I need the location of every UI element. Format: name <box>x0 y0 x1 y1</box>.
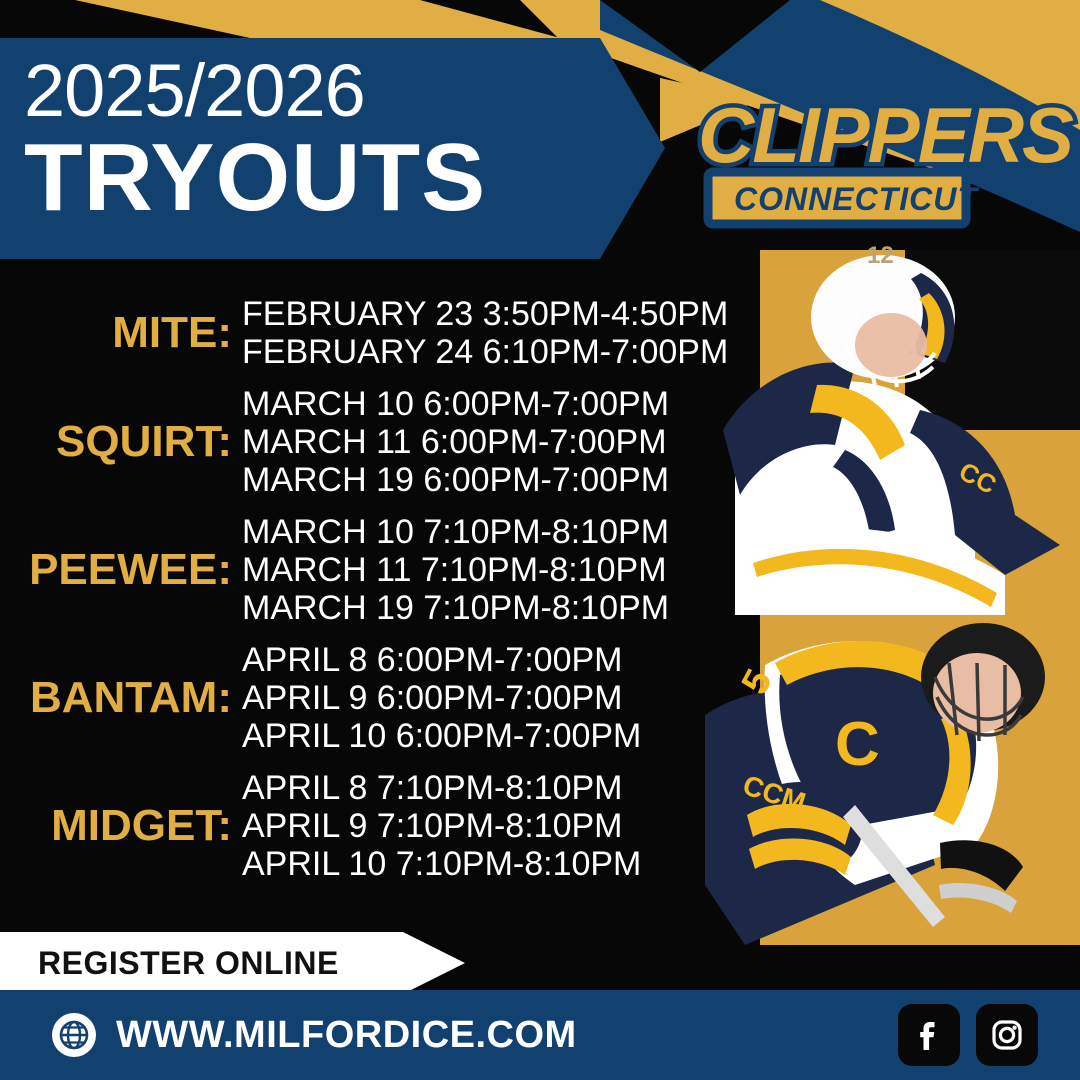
tryouts-poster: 2025/2026 TRYOUTS CLIPPERS CONNECTICUT <box>0 0 1080 1080</box>
team-logo: CLIPPERS CONNECTICUT <box>690 60 990 240</box>
globe-icon <box>52 1013 96 1057</box>
division-label-bantam: BANTAM: <box>0 674 232 722</box>
session-item: FEBRUARY 24 6:10PM-7:00PM <box>242 333 728 371</box>
register-online-label: REGISTER ONLINE <box>38 945 339 982</box>
session-item: FEBRUARY 23 3:50PM-4:50PM <box>242 295 728 333</box>
schedule-row-peewee: PEEWEE: MARCH 10 7:10PM-8:10PM MARCH 11 … <box>0 513 710 627</box>
session-item: APRIL 8 7:10PM-8:10PM <box>242 769 641 807</box>
logo-connecticut-text: CONNECTICUT <box>734 181 979 217</box>
session-item: APRIL 10 6:00PM-7:00PM <box>242 717 641 755</box>
instagram-icon[interactable] <box>976 1004 1038 1066</box>
session-item: APRIL 10 7:10PM-8:10PM <box>242 845 641 883</box>
schedule-row-bantam: BANTAM: APRIL 8 6:00PM-7:00PM APRIL 9 6:… <box>0 641 710 755</box>
tryout-schedule: MITE: FEBRUARY 23 3:50PM-4:50PM FEBRUARY… <box>0 295 710 897</box>
session-item: MARCH 19 7:10PM-8:10PM <box>242 589 669 627</box>
session-item: MARCH 11 6:00PM-7:00PM <box>242 423 669 461</box>
jersey-crest-bottom: C <box>835 710 880 779</box>
season-year: 2025/2026 <box>24 48 665 134</box>
register-online-banner[interactable]: REGISTER ONLINE <box>0 932 465 994</box>
session-item: MARCH 10 7:10PM-8:10PM <box>242 513 669 551</box>
facebook-icon[interactable] <box>898 1004 960 1066</box>
division-sessions-midget: APRIL 8 7:10PM-8:10PM APRIL 9 7:10PM-8:1… <box>242 769 641 883</box>
schedule-row-squirt: SQUIRT: MARCH 10 6:00PM-7:00PM MARCH 11 … <box>0 385 710 499</box>
helmet-number-top: 12 <box>867 245 894 269</box>
division-label-mite: MITE: <box>0 309 232 357</box>
division-sessions-mite: FEBRUARY 23 3:50PM-4:50PM FEBRUARY 24 6:… <box>242 295 728 371</box>
session-item: MARCH 10 6:00PM-7:00PM <box>242 385 669 423</box>
schedule-row-midget: MIDGET: APRIL 8 7:10PM-8:10PM APRIL 9 7:… <box>0 769 710 883</box>
logo-clippers-text: CLIPPERS <box>698 91 1074 179</box>
session-item: APRIL 9 6:00PM-7:00PM <box>242 679 641 717</box>
social-links <box>898 1004 1038 1066</box>
session-item: MARCH 19 6:00PM-7:00PM <box>242 461 669 499</box>
division-sessions-peewee: MARCH 10 7:10PM-8:10PM MARCH 11 7:10PM-8… <box>242 513 669 627</box>
division-sessions-bantam: APRIL 8 6:00PM-7:00PM APRIL 9 6:00PM-7:0… <box>242 641 641 755</box>
division-label-peewee: PEEWEE: <box>0 546 232 594</box>
session-item: APRIL 8 6:00PM-7:00PM <box>242 641 641 679</box>
division-label-squirt: SQUIRT: <box>0 418 232 466</box>
header-banner: 2025/2026 TRYOUTS <box>0 38 665 259</box>
schedule-row-mite: MITE: FEBRUARY 23 3:50PM-4:50PM FEBRUARY… <box>0 295 710 371</box>
logo-wordmark: CLIPPERS <box>698 91 1074 179</box>
player-bottom: C 5 CCM <box>705 623 1045 945</box>
session-item: MARCH 11 7:10PM-8:10PM <box>242 551 669 589</box>
website-url[interactable]: WWW.MILFORDICE.COM <box>116 1014 577 1057</box>
logo-banner: CONNECTICUT <box>708 172 979 224</box>
page-title: TRYOUTS <box>24 128 665 228</box>
footer-bar: WWW.MILFORDICE.COM <box>0 990 1080 1080</box>
division-label-midget: MIDGET: <box>0 802 232 850</box>
division-sessions-squirt: MARCH 10 6:00PM-7:00PM MARCH 11 6:00PM-7… <box>242 385 669 499</box>
session-item: APRIL 9 7:10PM-8:10PM <box>242 807 641 845</box>
player-photos: CC 2 12 <box>705 245 1080 945</box>
player-top: CC 2 12 <box>723 245 1060 615</box>
